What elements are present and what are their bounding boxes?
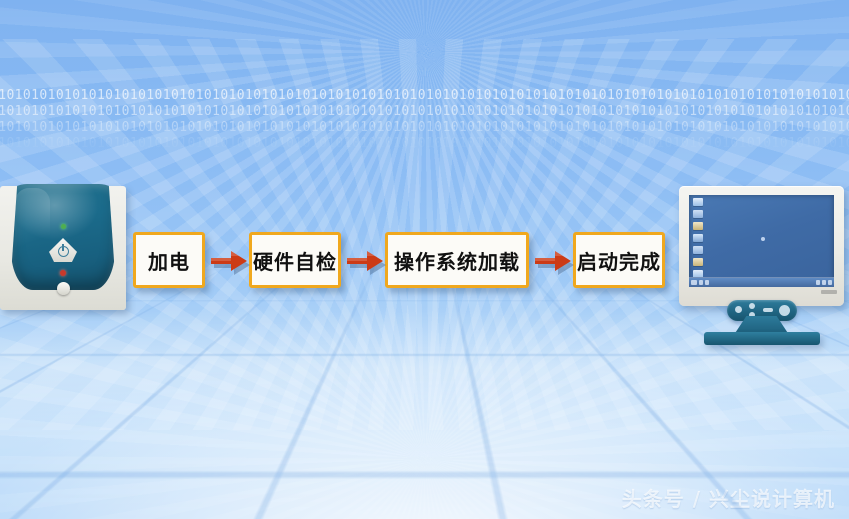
power-led-green-icon (61, 224, 66, 229)
monitor-power-button-icon (779, 305, 790, 316)
desktop-icon (693, 198, 703, 206)
hdd-led-red-icon (60, 270, 66, 276)
binary-row: 0101010101010101010101010101010101010101… (0, 88, 849, 104)
monitor-base (704, 332, 820, 345)
flow-step-box[interactable]: 启动完成 (573, 232, 665, 288)
desktop-icon (693, 210, 703, 218)
flow-step-label: 操作系统加载 (394, 246, 520, 275)
arrow-osload-to-complete-icon (532, 246, 574, 276)
flow-step-label: 硬件自检 (253, 246, 337, 275)
binary-row: 0101010101010101010101010101010101010101… (0, 104, 849, 120)
monitor-screen (689, 195, 834, 287)
flow-step-box[interactable]: 操作系统加载 (385, 232, 529, 288)
binary-digits-band: 0101010101010101010101010101010101010101… (0, 88, 849, 152)
taskbar-tray-area (816, 280, 832, 285)
flow-step-label: 加电 (148, 246, 190, 275)
clock-icon (828, 280, 832, 285)
monitor-image (679, 186, 844, 346)
mouse-cursor-icon (761, 237, 765, 241)
tray-icon (816, 280, 820, 285)
flow-step-box[interactable]: 加电 (133, 232, 205, 288)
tray-icon (822, 280, 826, 285)
desktop-icons-column (693, 198, 709, 287)
flow-step-label: 启动完成 (577, 246, 661, 275)
monitor-bezel (679, 186, 844, 306)
quicklaunch-icon (705, 280, 709, 285)
reset-button-icon (57, 282, 70, 295)
desktop-icon (693, 246, 703, 254)
monitor-button-icon (735, 306, 742, 313)
desktop-icon (693, 234, 703, 242)
start-button-icon (691, 280, 697, 285)
taskbar-start-area (691, 280, 709, 285)
watermark-text: 头条号 / 兴尘说计算机 (622, 483, 835, 512)
monitor-button-icon (749, 303, 755, 309)
desktop-icon (693, 258, 703, 266)
binary-row: 0101010101010101010101010101010101010101… (0, 120, 849, 136)
monitor-brand-logo (821, 290, 837, 294)
scene-canvas: 0101010101010101010101010101010101010101… (0, 0, 849, 519)
binary-row: 0101010101010101010101010101010101010101… (0, 136, 849, 152)
arrow-selftest-to-osload-icon (344, 246, 386, 276)
desktop-icon (693, 222, 703, 230)
monitor-button-icon (763, 308, 773, 312)
desktop-taskbar (689, 277, 834, 287)
flow-step-box[interactable]: 硬件自检 (249, 232, 341, 288)
quicklaunch-icon (699, 280, 703, 285)
computer-tower-image (0, 186, 126, 310)
arrow-power-to-selftest-icon (208, 246, 250, 276)
